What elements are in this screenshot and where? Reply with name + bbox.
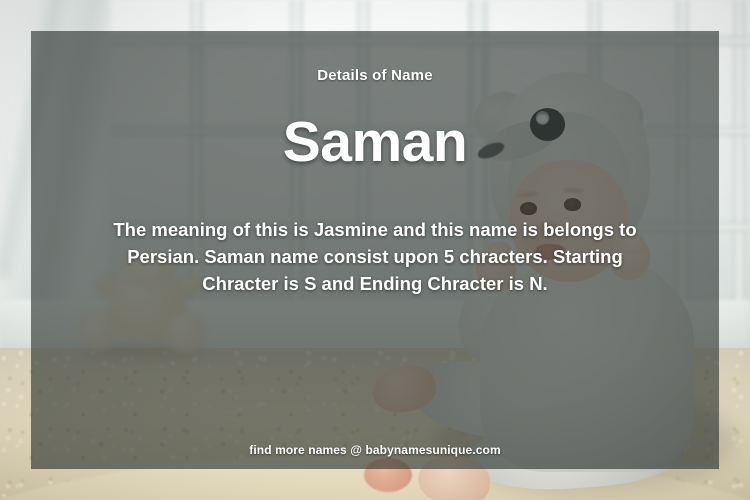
- name-title: Saman: [31, 113, 719, 173]
- card-kicker: Details of Name: [31, 67, 719, 84]
- baby-name-card: Details of Name Saman The meaning of thi…: [0, 0, 750, 500]
- site-footer: find more names @ babynamesunique.com: [31, 443, 719, 457]
- card-content: Details of Name Saman The meaning of thi…: [31, 31, 719, 469]
- name-description: The meaning of this is Jasmine and this …: [93, 216, 657, 297]
